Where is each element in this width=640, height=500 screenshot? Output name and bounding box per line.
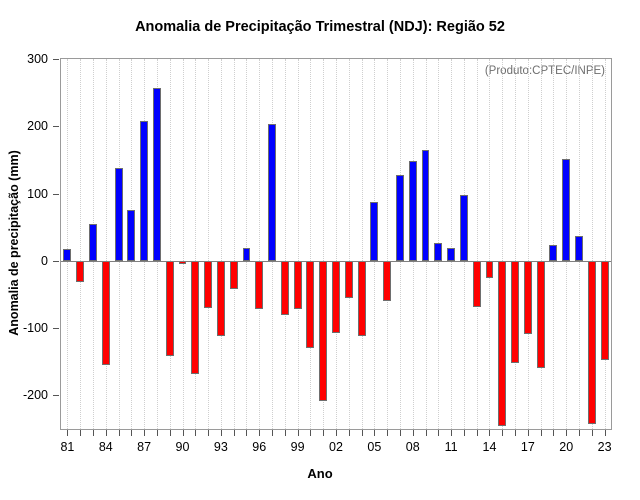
x-tick-mark [400,430,401,436]
bar-2015 [498,261,506,426]
y-tick-mark [53,194,59,195]
grid-line [387,59,388,429]
x-tick-mark [605,430,606,436]
x-tick-mark [106,430,107,436]
grid-line [80,59,81,429]
bar-2009 [422,150,430,261]
bar-1992 [204,261,212,308]
bar-1995 [243,248,251,261]
grid-line [605,59,606,429]
bar-1985 [115,168,123,261]
grid-line [67,59,68,429]
y-axis-title: Anomalia de precipitação (mm) [7,150,21,335]
grid-line [298,59,299,429]
bar-2004 [358,261,366,336]
x-axis-title: Ano [0,466,640,481]
bar-2012 [460,195,468,261]
bar-2003 [345,261,353,298]
grid-line [336,59,337,429]
grid-line [259,59,260,429]
x-tick-mark [131,430,132,436]
x-tick-mark [426,430,427,436]
x-tick-label: 81 [60,440,74,454]
x-tick-mark [208,430,209,436]
grid-line [541,59,542,429]
bar-1994 [230,261,238,289]
grid-line [451,59,452,429]
bar-1993 [217,261,225,336]
x-tick-mark [438,430,439,436]
bar-1981 [63,249,71,261]
grid-line [489,59,490,429]
x-tick-mark [349,430,350,436]
x-tick-mark [323,430,324,436]
x-tick-mark [592,430,593,436]
x-tick-mark [541,430,542,436]
x-tick-mark [259,430,260,436]
x-tick-mark [298,430,299,436]
grid-line [349,59,350,429]
x-tick-mark [144,430,145,436]
bar-2022 [588,261,596,424]
x-tick-label: 96 [252,440,266,454]
x-tick-label: 14 [483,440,497,454]
bar-2011 [447,248,455,261]
bar-1986 [127,210,135,261]
bar-1983 [89,224,97,261]
bar-2023 [601,261,609,360]
grid-line [170,59,171,429]
y-tick-mark [53,328,59,329]
y-tick-mark [53,261,59,262]
x-tick-label: 90 [176,440,190,454]
bar-1982 [76,261,84,283]
x-tick-mark [413,430,414,436]
bar-2019 [549,245,557,261]
x-tick-mark [362,430,363,436]
x-tick-label: 20 [559,440,573,454]
x-tick-mark [528,430,529,436]
x-tick-label: 93 [214,440,228,454]
grid-line [208,59,209,429]
bar-2000 [306,261,314,348]
x-tick-mark [310,430,311,436]
x-tick-label: 17 [521,440,535,454]
x-tick-mark [221,430,222,436]
x-tick-mark [272,430,273,436]
x-tick-label: 87 [137,440,151,454]
x-tick-mark [464,430,465,436]
bar-1999 [294,261,302,309]
grid-line [221,59,222,429]
x-tick-mark [387,430,388,436]
bar-2020 [562,159,570,261]
chart-page: Anomalia de Precipitação Trimestral (NDJ… [0,0,640,500]
grid-line [310,59,311,429]
bar-1998 [281,261,289,315]
bar-2002 [332,261,340,333]
x-tick-mark [451,430,452,436]
bar-2018 [537,261,545,369]
bar-2001 [319,261,327,402]
x-tick-mark [515,430,516,436]
bar-2016 [511,261,519,363]
grid-line [106,59,107,429]
bar-2021 [575,236,583,261]
bar-1988 [153,88,161,261]
grid-line [183,59,184,429]
y-tick-label: 300 [0,52,48,66]
bar-2014 [486,261,494,278]
x-tick-label: 99 [291,440,305,454]
bar-1987 [140,121,148,261]
grid-line [285,59,286,429]
x-tick-label: 84 [99,440,113,454]
x-tick-mark [502,430,503,436]
x-tick-mark [80,430,81,436]
bar-2013 [473,261,481,307]
x-tick-label: 23 [598,440,612,454]
x-tick-mark [183,430,184,436]
x-tick-label: 08 [406,440,420,454]
x-tick-mark [374,430,375,436]
y-tick-label: 200 [0,119,48,133]
grid-line [362,59,363,429]
x-tick-mark [195,430,196,436]
bar-2005 [370,202,378,261]
bar-2017 [524,261,532,334]
x-tick-mark [246,430,247,436]
bar-1996 [255,261,263,309]
grid-line [515,59,516,429]
x-tick-mark [93,430,94,436]
x-tick-mark [234,430,235,436]
x-tick-mark [489,430,490,436]
x-tick-mark [157,430,158,436]
grid-line [234,59,235,429]
bar-2010 [434,243,442,261]
bar-1984 [102,261,110,365]
x-tick-label: 02 [329,440,343,454]
x-tick-mark [579,430,580,436]
bar-2008 [409,161,417,261]
x-tick-mark [336,430,337,436]
plot-area: (Produto:CPTEC/INPE) [60,58,612,430]
x-tick-mark [553,430,554,436]
page-title: Anomalia de Precipitação Trimestral (NDJ… [0,19,640,35]
grid-line [246,59,247,429]
bar-2007 [396,175,404,260]
x-tick-mark [67,430,68,436]
x-tick-label: 05 [367,440,381,454]
x-tick-label: 11 [445,440,458,454]
grid-line [528,59,529,429]
bar-1991 [191,261,199,374]
bar-2006 [383,261,391,301]
zero-line [61,261,611,262]
x-tick-mark [285,430,286,436]
grid-line [477,59,478,429]
y-tick-mark [53,126,59,127]
x-tick-mark [566,430,567,436]
bar-1989 [166,261,174,356]
x-tick-mark [119,430,120,436]
y-tick-mark [53,59,59,60]
x-tick-mark [477,430,478,436]
x-tick-mark [170,430,171,436]
y-tick-mark [53,395,59,396]
bar-1997 [268,124,276,261]
y-tick-label: -200 [0,388,48,402]
